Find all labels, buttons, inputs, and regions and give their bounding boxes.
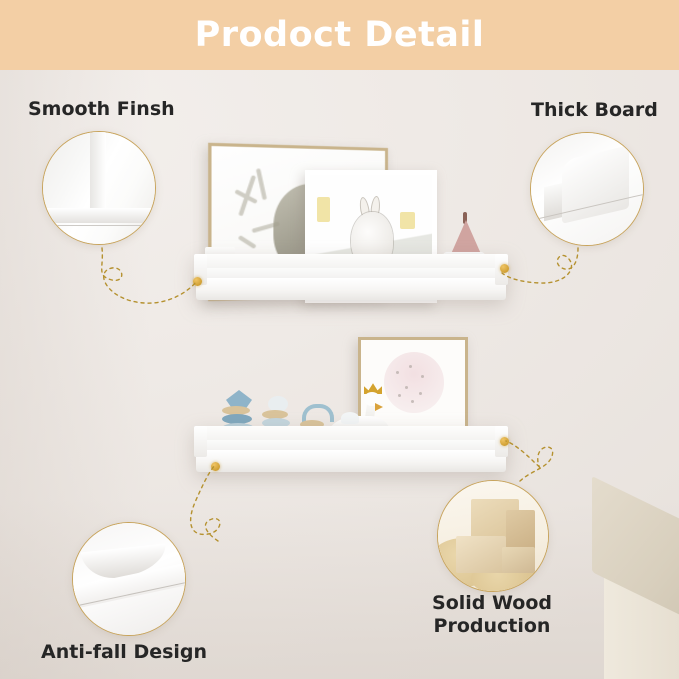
callout-circle-anti-fall[interactable] [72, 522, 186, 636]
product-detail-image: Smooth Finsh Thick Board Anti-fall Desig… [0, 0, 679, 679]
upper-shelf-anchor-left [193, 277, 202, 286]
zoom-solid-wood [438, 481, 548, 591]
callout-label-solid-wood-line2: Production [434, 615, 551, 637]
lower-shelf-anchor-left [211, 462, 220, 471]
callout-circle-thick-board[interactable] [530, 132, 644, 246]
upper-shelf-face [196, 278, 506, 300]
lower-shelf [196, 440, 506, 472]
callout-label-thick-board: Thick Board [531, 99, 658, 121]
zoom-thick-board [531, 133, 643, 245]
callout-label-anti-fall: Anti-fall Design [41, 641, 207, 663]
zoom-smooth-finish [43, 132, 155, 244]
callout-circle-solid-wood[interactable] [437, 480, 549, 592]
house-shaped-shelf [596, 466, 679, 679]
lower-shelf-endcap-left [194, 426, 207, 457]
upper-shelf [196, 268, 506, 300]
callout-circle-smooth-finish[interactable] [42, 131, 156, 245]
callout-label-solid-wood: Solid Wood Production [427, 592, 557, 638]
callout-label-smooth-finish: Smooth Finsh [28, 98, 175, 120]
upper-shelf-anchor-right [500, 264, 509, 273]
lower-shelf-face [196, 450, 506, 472]
lower-shelf-anchor-right [500, 437, 509, 446]
callout-label-solid-wood-line1: Solid Wood [432, 592, 552, 614]
page-title: Prodoct Detail [195, 15, 485, 55]
zoom-anti-fall [73, 523, 185, 635]
header-banner: Prodoct Detail [0, 0, 679, 70]
